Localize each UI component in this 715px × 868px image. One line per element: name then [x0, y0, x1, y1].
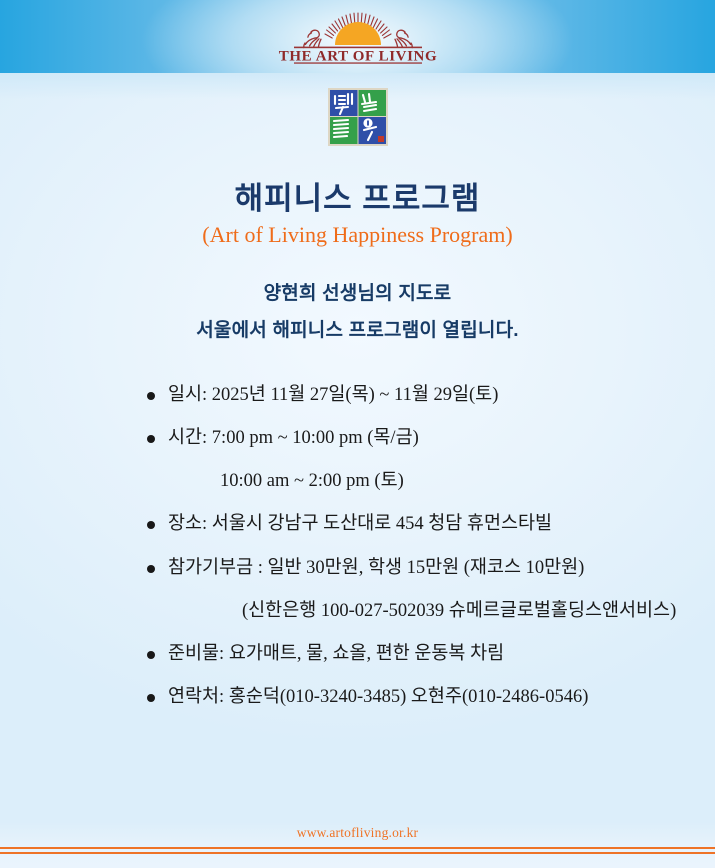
korean-calligraphy-square-icon [328, 88, 388, 146]
bullet-icon [147, 435, 155, 443]
lead-line-2: 서울에서 해피니스 프로그램이 열립니다. [0, 312, 715, 349]
art-of-living-wordmark: THE ART OF LIVING [278, 49, 436, 65]
korean-brand-mark [328, 88, 388, 146]
detail-text-date: 일시: 2025년 11월 27일(목) ~ 11월 29일(토) [168, 385, 498, 405]
page-title-english: (Art of Living Happiness Program) [0, 221, 715, 250]
detail-row-time-saturday: 10:00 am ~ 2:00 pm (토) [146, 470, 706, 493]
footer: www.artofliving.or.kr [0, 822, 715, 868]
detail-text-time-saturday: 10:00 am ~ 2:00 pm (토) [220, 471, 404, 491]
detail-row-what-to-bring: 준비물: 요가매트, 물, 쇼올, 편한 운동복 차림 [146, 643, 706, 666]
lead-line-1: 양현희 선생님의 지도로 [0, 275, 715, 312]
bullet-icon [147, 521, 155, 529]
detail-text-venue: 장소: 서울시 강남구 도산대로 454 청담 휴먼스타빌 [168, 514, 552, 534]
lead-block: 양현희 선생님의 지도로 서울에서 해피니스 프로그램이 열립니다. [0, 275, 715, 349]
footer-rule-bottom [0, 852, 715, 854]
art-of-living-logo: THE ART OF LIVING [278, 9, 438, 65]
footer-website-url[interactable]: www.artofliving.or.kr [0, 825, 715, 841]
detail-row-venue: 장소: 서울시 강남구 도산대로 454 청담 휴먼스타빌 [146, 513, 706, 536]
detail-row-fee: 참가기부금 : 일반 30만원, 학생 15만원 (재코스 10만원) [146, 557, 706, 580]
detail-text-time: 시간: 7:00 pm ~ 10:00 pm (목/금) [168, 428, 419, 448]
bullet-icon [147, 392, 155, 400]
detail-row-contact: 연락처: 홍순덕(010-3240-3485) 오현주(010-2486-054… [146, 686, 706, 709]
detail-row-bank-account: (신한은행 100-027-502039 슈메르글로벌홀딩스앤서비스) [146, 600, 706, 623]
detail-row-date: 일시: 2025년 11월 27일(목) ~ 11월 29일(토) [146, 384, 706, 407]
title-block: 해피니스 프로그램 (Art of Living Happiness Progr… [0, 180, 715, 249]
sun-swans-icon: THE ART OF LIVING [278, 9, 438, 65]
page-title-korean: 해피니스 프로그램 [0, 180, 715, 219]
poster-root: THE ART OF LIVING [0, 0, 715, 868]
detail-text-contact: 연락처: 홍순덕(010-3240-3485) 오현주(010-2486-054… [168, 687, 588, 707]
detail-row-time: 시간: 7:00 pm ~ 10:00 pm (목/금) [146, 427, 706, 450]
details-list: 일시: 2025년 11월 27일(목) ~ 11월 29일(토) 시간: 7:… [146, 384, 706, 729]
detail-text-fee: 참가기부금 : 일반 30만원, 학생 15만원 (재코스 10만원) [168, 558, 584, 578]
detail-text-bank-account: (신한은행 100-027-502039 슈메르글로벌홀딩스앤서비스) [242, 601, 676, 621]
bullet-icon [147, 651, 155, 659]
detail-text-what-to-bring: 준비물: 요가매트, 물, 쇼올, 편한 운동복 차림 [168, 644, 504, 664]
bullet-icon [147, 565, 155, 573]
bullet-icon [147, 694, 155, 702]
footer-rule-top [0, 847, 715, 849]
